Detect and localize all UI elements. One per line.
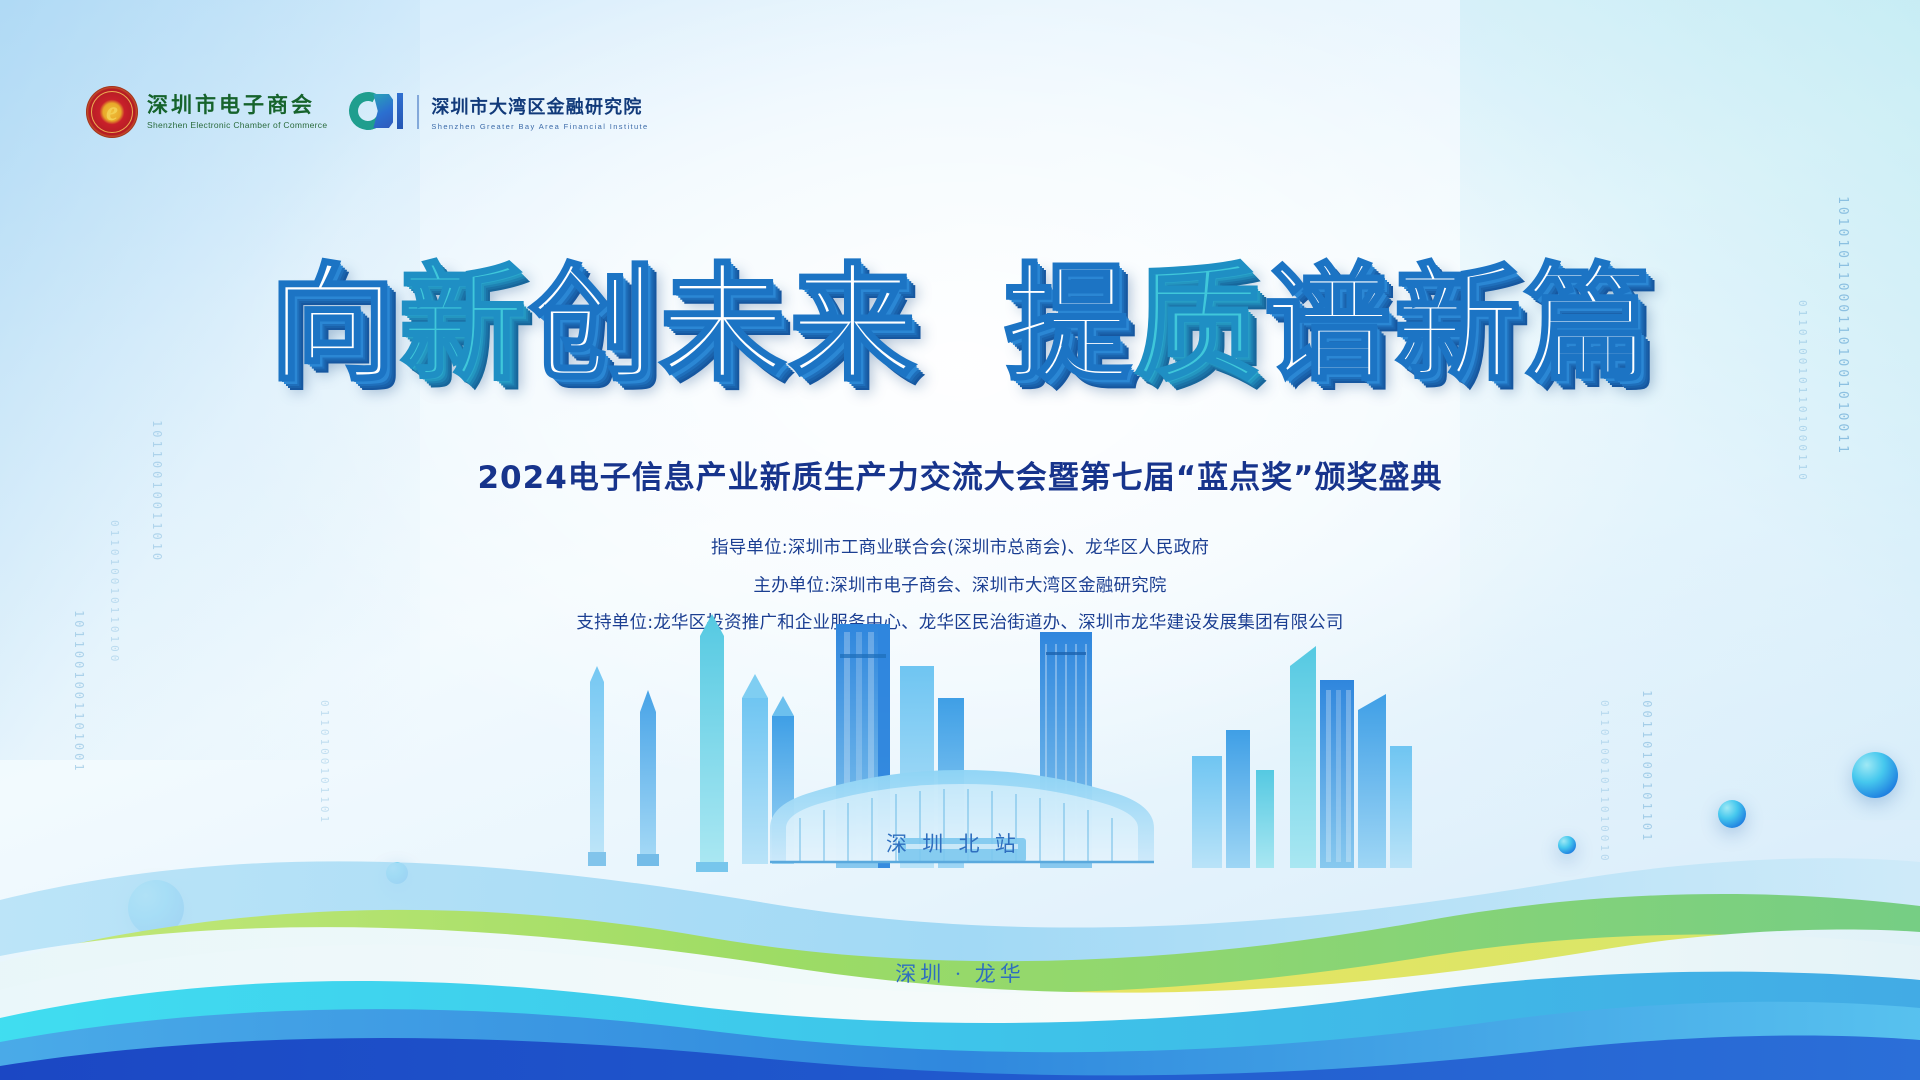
headline-char: 提 (1002, 262, 1132, 388)
headline-char: 篇 (1522, 262, 1652, 388)
logo-text-block: 深圳市大湾区金融研究院 Shenzhen Greater Bay Area Fi… (431, 93, 648, 131)
gbi-monogram-icon (349, 92, 405, 132)
headline-char: 谱 (1262, 262, 1392, 388)
event-subtitle: 2024电子信息产业新质生产力交流大会暨第七届“蓝点奖”颁奖盛典 (0, 452, 1920, 497)
headline-char: 来 (788, 262, 918, 388)
organizer-line-host: 主办单位:深圳市电子商会、深圳市大湾区金融研究院 (0, 578, 1920, 596)
organizer-line-support: 支持单位:龙华区投资推广和企业服务中心、龙华区民治街道办、深圳市龙华建设发展集团… (0, 615, 1920, 633)
background-tint-right (1460, 0, 1920, 820)
logo-name-en: Shenzhen Greater Bay Area Financial Inst… (431, 122, 648, 131)
headline-char: 创 (528, 262, 658, 388)
page-title: 向新创未来 提质谱新篇 (0, 262, 1920, 388)
headline-phrase-1: 向新创未来 (268, 262, 918, 388)
headline-char: 向 (268, 262, 398, 388)
waves-svg (0, 750, 1920, 1080)
logo-name-cn: 深圳市电子商会 (147, 94, 327, 118)
headline-char: 未 (658, 262, 788, 388)
wave-decoration (0, 750, 1920, 1080)
seal-monogram: e (86, 98, 138, 125)
headline-char: 新 (398, 262, 528, 388)
logo-name-en: Shenzhen Electronic Chamber of Commerce (147, 120, 327, 130)
logo-shenzhen-electronic-chamber: e 深圳市电子商会 Shenzhen Electronic Chamber of… (86, 86, 327, 138)
logo-name-cn: 深圳市大湾区金融研究院 (431, 93, 648, 119)
logo-divider (417, 95, 419, 129)
organizer-block: 指导单位:深圳市工商业联合会(深圳市总商会)、龙华区人民政府 主办单位:深圳市电… (0, 540, 1920, 653)
logo-greater-bay-financial-institute: 深圳市大湾区金融研究院 Shenzhen Greater Bay Area Fi… (349, 92, 648, 132)
gbi-letter-i-icon (397, 93, 403, 129)
conference-banner: 1010101100011010010100110110100101101000… (0, 0, 1920, 1080)
headline-char: 新 (1392, 262, 1522, 388)
logo-text-block: 深圳市电子商会 Shenzhen Electronic Chamber of C… (147, 94, 327, 130)
logo-bar: e 深圳市电子商会 Shenzhen Electronic Chamber of… (86, 86, 649, 138)
headline-phrase-2: 提质谱新篇 (1002, 262, 1652, 388)
city-label: 深圳 · 龙华 (0, 958, 1920, 988)
headline-char: 质 (1132, 262, 1262, 388)
red-circular-seal-icon: e (86, 86, 138, 138)
organizer-line-guidance: 指导单位:深圳市工商业联合会(深圳市总商会)、龙华区人民政府 (0, 540, 1920, 558)
